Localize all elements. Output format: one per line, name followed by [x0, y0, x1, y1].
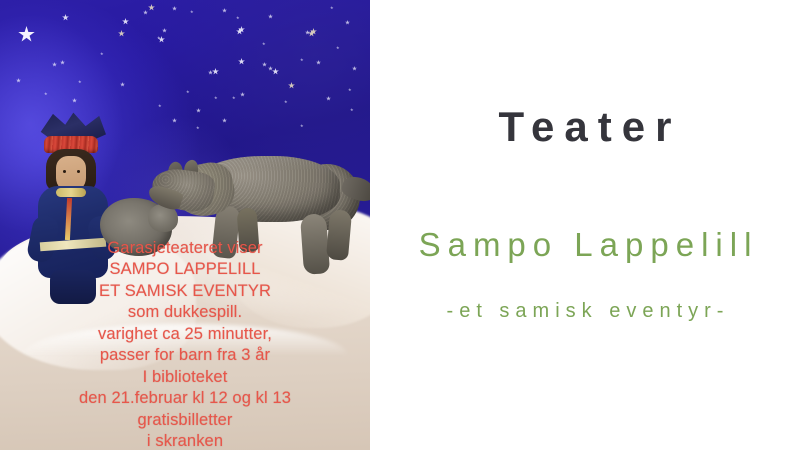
star-icon [143, 10, 148, 15]
text-panel: Teater Sampo Lappelill -et samisk eventy… [370, 0, 800, 450]
star-icon [222, 118, 227, 123]
star-icon [60, 60, 65, 65]
overlay-line: ET SAMISK EVENTYR [0, 281, 370, 302]
overlay-line: varighet ca 25 minutter, [0, 324, 370, 345]
star-icon [118, 30, 125, 37]
overlay-line: gratisbilletter [0, 410, 370, 431]
photo-overlay-caption: Garasjeteateret viser SAMPO LAPPELILL ET… [0, 238, 370, 450]
page-title: Teater [370, 103, 800, 151]
star-icon [72, 98, 77, 103]
star-icon [336, 46, 340, 50]
star-icon [62, 14, 69, 21]
star-icon [238, 58, 245, 65]
sampo-lappelill-puppet-photo: Garasjeteateret viser SAMPO LAPPELILL ET… [0, 0, 370, 450]
star-icon [268, 66, 273, 71]
star-icon [172, 118, 177, 123]
overlay-line: I biblioteket [0, 367, 370, 388]
star-icon [350, 108, 354, 112]
star-icon [148, 4, 155, 11]
poster-root: Garasjeteateret viser SAMPO LAPPELILL ET… [0, 0, 800, 450]
star-icon [330, 6, 334, 10]
star-icon [44, 92, 48, 96]
star-icon [212, 68, 219, 75]
star-icon [158, 104, 162, 108]
star-icon [208, 70, 213, 75]
star-icon [214, 96, 218, 100]
show-title: Sampo Lappelill [370, 226, 800, 264]
star-icon [196, 108, 201, 113]
star-icon [18, 26, 35, 43]
star-icon [78, 80, 82, 84]
star-icon [196, 126, 200, 130]
star-icon [316, 60, 321, 65]
star-icon [262, 42, 266, 46]
star-icon [268, 14, 273, 19]
star-icon [300, 58, 304, 62]
star-icon [120, 82, 125, 87]
overlay-line: Garasjeteateret viser [0, 238, 370, 259]
star-icon [284, 100, 288, 104]
star-icon [16, 78, 21, 83]
star-icon [326, 96, 331, 101]
star-icon [162, 28, 167, 33]
puppet-eye-left [63, 170, 66, 173]
puppet-eye-right [77, 170, 80, 173]
gakti-collar [56, 188, 86, 197]
overlay-line: som dukkespill. [0, 302, 370, 323]
star-icon [172, 6, 177, 11]
overlay-line: SAMPO LAPPELILL [0, 259, 370, 280]
overlay-line: den 21.februar kl 12 og kl 13 [0, 388, 370, 409]
star-icon [186, 90, 190, 94]
star-icon [348, 88, 352, 92]
star-icon [100, 52, 104, 56]
star-icon [122, 18, 129, 25]
overlay-line: passer for barn fra 3 år [0, 345, 370, 366]
star-icon [52, 62, 57, 67]
star-icon [222, 8, 227, 13]
star-icon [272, 68, 279, 75]
star-icon [345, 20, 350, 25]
star-icon [352, 66, 357, 71]
star-icon [232, 96, 236, 100]
star-icon [240, 92, 245, 97]
star-icon [288, 82, 295, 89]
star-icon [190, 10, 194, 14]
star-icon [300, 124, 304, 128]
star-icon [236, 16, 240, 20]
star-icon [262, 62, 267, 67]
overlay-line: i skranken [0, 431, 370, 450]
show-tagline: -et samisk eventyr- [370, 300, 800, 323]
